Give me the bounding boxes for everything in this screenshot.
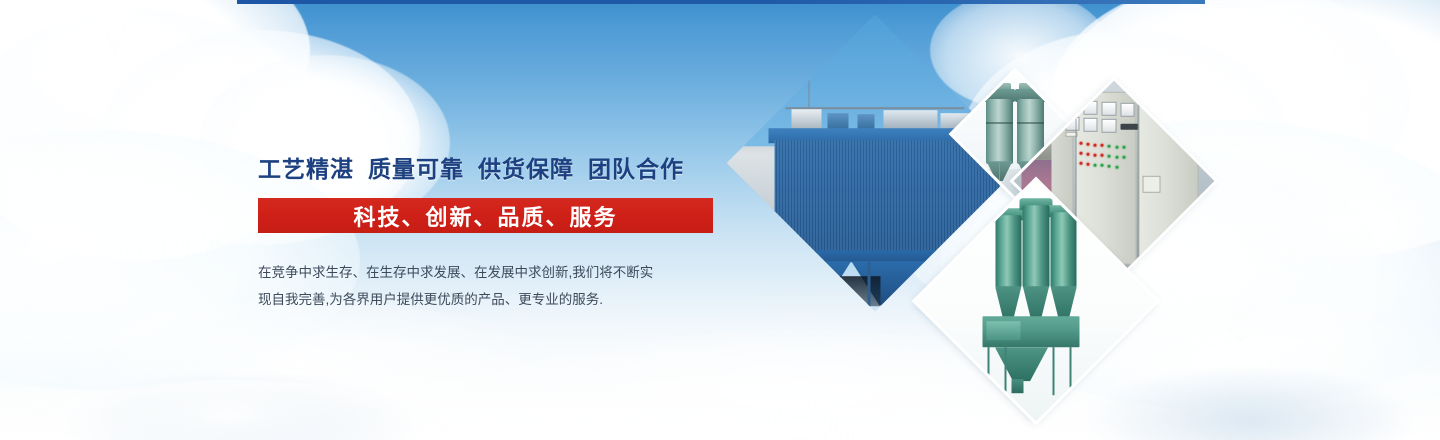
vessel-band <box>986 122 1012 124</box>
hero-banner: 工艺精湛质量可靠供货保障团队合作 科技、创新、品质、服务 在竞争中求生存、在生存… <box>0 0 1440 440</box>
paragraph-line-1: 现自我完善,为各界用户提供更优质的产品、更专业的服务. <box>258 286 728 313</box>
support-leg <box>868 262 871 307</box>
paragraph-line-0: 在竞争中求生存、在生存中求发展、在发展中求创新,我们将不断实 <box>258 259 728 286</box>
collector-corrugated-body <box>774 140 1000 253</box>
panel-meter <box>1066 100 1080 114</box>
collector-hopper-cone <box>777 261 851 306</box>
panel-meter <box>1102 119 1116 133</box>
support-leg <box>1053 347 1055 395</box>
panel-meter <box>1102 102 1116 116</box>
top-accent-rule <box>237 0 1205 4</box>
cyclone-tube <box>995 215 1022 287</box>
support-leg <box>988 347 990 395</box>
headline-item-0: 工艺精湛 <box>258 156 368 182</box>
headline-item-2: 供货保障 <box>478 156 588 182</box>
panel-meter <box>1084 101 1098 115</box>
headline-item-3: 团队合作 <box>588 156 684 182</box>
roof-equipment <box>792 109 822 130</box>
slogan-bar: 科技、创新、品质、服务 <box>258 198 713 233</box>
banner-paragraph: 在竞争中求生存、在生存中求发展、在发展中求创新,我们将不断实 现自我完善,为各界… <box>258 259 728 313</box>
cyclone-tube <box>1023 205 1050 287</box>
cabinet-seam <box>1137 100 1138 265</box>
slogan-bar-text: 科技、创新、品质、服务 <box>353 200 617 232</box>
panel-meter <box>1084 118 1098 132</box>
cabinet-vent <box>1120 124 1138 130</box>
product-diamond-collage <box>755 48 1185 393</box>
panel-meter <box>1120 103 1134 117</box>
support-leg <box>1005 347 1007 395</box>
banner-headline: 工艺精湛质量可靠供货保障团队合作 <box>258 150 728 184</box>
indicator-led-green <box>1122 146 1125 149</box>
banner-copy: 工艺精湛质量可靠供货保障团队合作 科技、创新、品质、服务 在竞争中求生存、在生存… <box>258 150 728 313</box>
indicator-led-green <box>1115 165 1118 168</box>
antenna-beacon <box>806 69 810 73</box>
manifold-access-panel <box>987 321 1021 340</box>
vessel-support-post <box>999 161 1001 181</box>
cyclone-tube <box>1050 213 1077 288</box>
roof-equipment <box>884 110 937 129</box>
indicator-led-green <box>1115 145 1118 148</box>
discharge-spout <box>1012 379 1024 393</box>
vessel-band <box>1017 122 1043 124</box>
support-leg <box>795 262 798 307</box>
cabinet-label <box>1142 176 1160 192</box>
vessel-cylinder <box>986 99 1012 163</box>
antenna-mast <box>808 72 810 111</box>
indicator-led-green <box>1115 155 1118 158</box>
headline-item-1: 质量可靠 <box>368 156 478 182</box>
under-structure-shadow <box>816 277 881 307</box>
support-leg <box>1070 347 1072 395</box>
